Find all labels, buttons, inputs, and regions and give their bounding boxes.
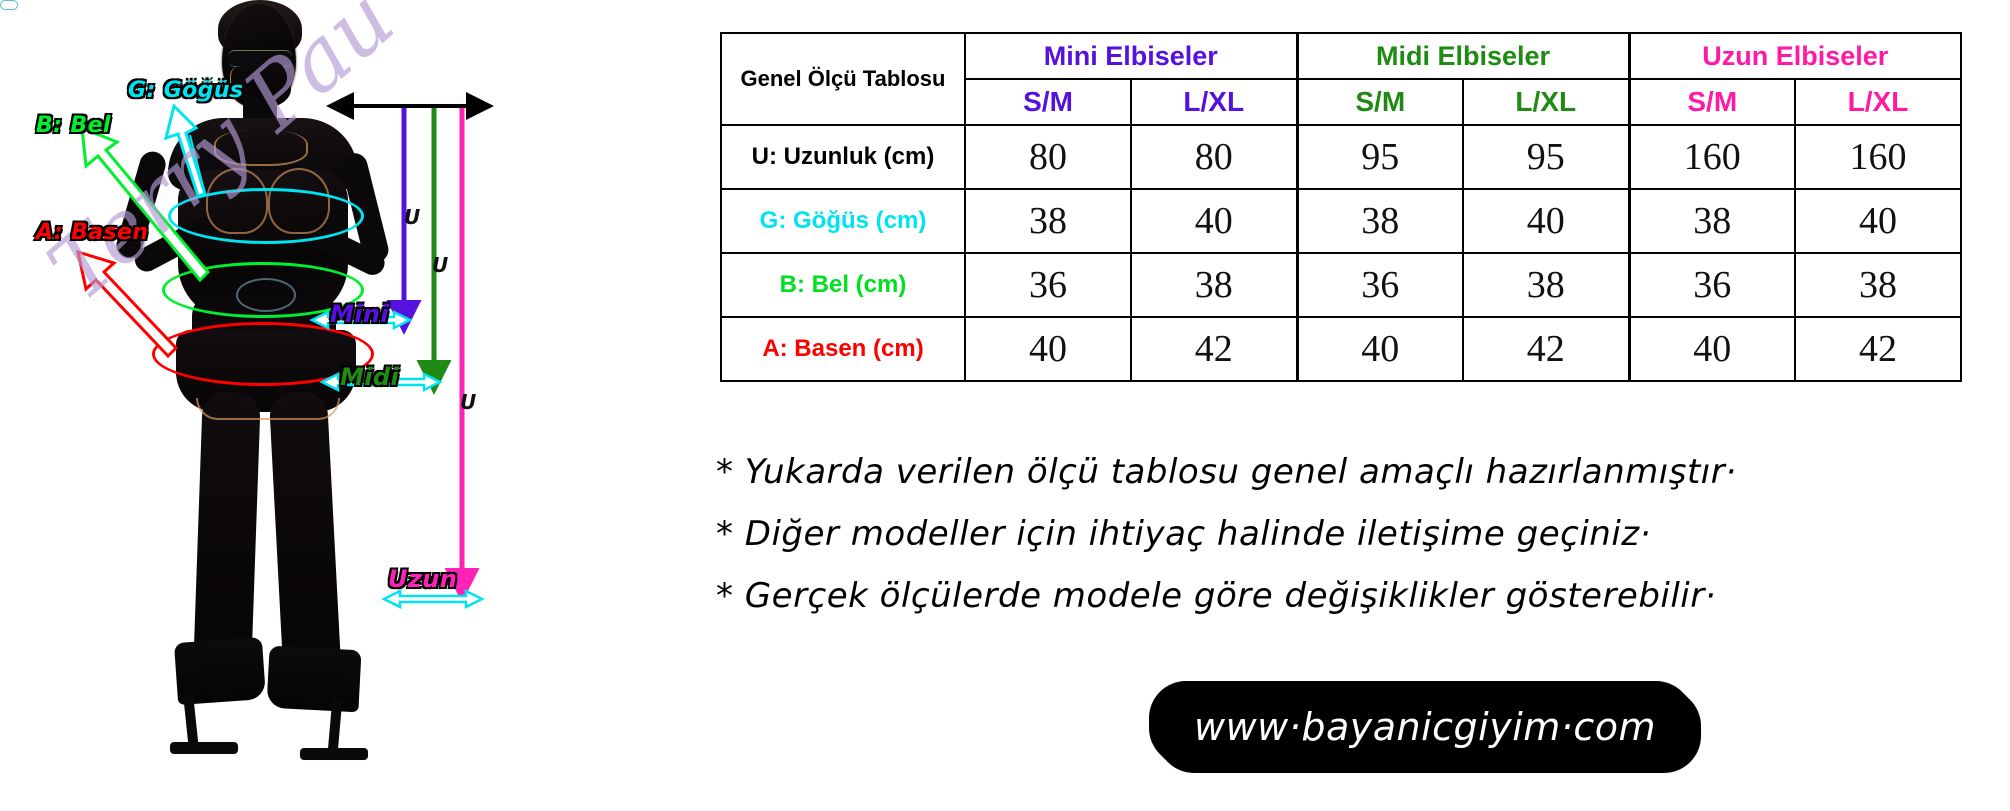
cell-uzunluk-uzun-sm: 160 — [1629, 125, 1795, 189]
row-label-gogus: G: Göğüs (cm) — [721, 189, 965, 253]
cell-basen-midi-lxl: 42 — [1463, 317, 1629, 381]
cell-basen-uzun-lxl: 42 — [1795, 317, 1961, 381]
cell-gogus-midi-sm: 38 — [1297, 189, 1463, 253]
cell-basen-uzun-sm: 40 — [1629, 317, 1795, 381]
cell-uzunluk-midi-sm: 95 — [1297, 125, 1463, 189]
cell-uzunluk-mini-sm: 80 — [965, 125, 1131, 189]
cell-basen-mini-sm: 40 — [965, 317, 1131, 381]
cell-gogus-uzun-sm: 38 — [1629, 189, 1795, 253]
waist-label: B: Bel — [36, 113, 111, 138]
row-label-bel: B: Bel (cm) — [721, 253, 965, 317]
cell-bel-midi-lxl: 38 — [1463, 253, 1629, 317]
group-header-mini: Mini Elbiseler — [965, 33, 1297, 79]
group-header-midi: Midi Elbiseler — [1297, 33, 1629, 79]
size-header-uzun-sm: S/M — [1629, 79, 1795, 125]
info-panel: Genel Ölçü Tablosu Mini Elbiseler Midi E… — [660, 0, 2010, 811]
cell-bel-midi-sm: 36 — [1297, 253, 1463, 317]
row-label-uzunluk: U: Uzunluk (cm) — [721, 125, 965, 189]
uzun-span-arrow — [384, 591, 482, 607]
size-header-uzun-lxl: L/XL — [1795, 79, 1961, 125]
cell-bel-mini-sm: 36 — [965, 253, 1131, 317]
cell-uzunluk-midi-lxl: 95 — [1463, 125, 1629, 189]
size-chart-image: Terry Pau G: Göğüs B: Bel A: Basen Mini … — [0, 0, 2010, 811]
size-header-mini-lxl: L/XL — [1131, 79, 1297, 125]
table-row: A: Basen (cm) 40 42 40 42 40 42 — [721, 317, 1961, 381]
cell-gogus-uzun-lxl: 40 — [1795, 189, 1961, 253]
cell-uzunluk-mini-lxl: 80 — [1131, 125, 1297, 189]
cell-basen-midi-sm: 40 — [1297, 317, 1463, 381]
cell-basen-mini-lxl: 42 — [1131, 317, 1297, 381]
note-line-3: * Gerçek ölçülerde modele göre değişikli… — [716, 576, 1716, 616]
size-header-mini-sm: S/M — [965, 79, 1131, 125]
hip-pointer-arrow — [78, 252, 176, 356]
size-table: Genel Ölçü Tablosu Mini Elbiseler Midi E… — [720, 32, 1962, 382]
table-header-group-row: Genel Ölçü Tablosu Mini Elbiseler Midi E… — [721, 33, 1961, 79]
mini-label: Mini — [330, 300, 389, 328]
hip-label: A: Basen — [36, 220, 148, 245]
cell-gogus-mini-sm: 38 — [965, 189, 1131, 253]
cell-bel-mini-lxl: 38 — [1131, 253, 1297, 317]
u-mark-uzun: U — [460, 390, 476, 414]
size-header-midi-lxl: L/XL — [1463, 79, 1629, 125]
cell-gogus-mini-lxl: 40 — [1131, 189, 1297, 253]
figure-illustration-panel: Terry Pau G: Göğüs B: Bel A: Basen Mini … — [0, 0, 660, 811]
cell-uzunluk-uzun-lxl: 160 — [1795, 125, 1961, 189]
size-header-midi-sm: S/M — [1297, 79, 1463, 125]
table-corner-label: Genel Ölçü Tablosu — [721, 33, 965, 125]
website-url-badge[interactable]: www·bayanicgiyim·com — [1160, 692, 1690, 762]
uzun-label: Uzun — [388, 565, 457, 593]
group-header-uzun: Uzun Elbiseler — [1629, 33, 1961, 79]
cell-gogus-midi-lxl: 40 — [1463, 189, 1629, 253]
cell-bel-uzun-sm: 36 — [1629, 253, 1795, 317]
midi-label: Midi — [340, 363, 399, 391]
row-label-basen: A: Basen (cm) — [721, 317, 965, 381]
table-row: U: Uzunluk (cm) 80 80 95 95 160 160 — [721, 125, 1961, 189]
table-row: G: Göğüs (cm) 38 40 38 40 38 40 — [721, 189, 1961, 253]
u-mark-midi: U — [432, 253, 448, 277]
u-mark-mini: U — [404, 205, 420, 229]
bust-pointer-arrow — [166, 106, 205, 196]
table-row: B: Bel (cm) 36 38 36 38 36 38 — [721, 253, 1961, 317]
note-line-1: * Yukarda verilen ölçü tablosu genel ama… — [716, 452, 1737, 492]
note-line-2: * Diğer modeller için ihtiyaç halinde il… — [716, 514, 1651, 554]
website-url-text: www·bayanicgiyim·com — [1194, 705, 1656, 749]
bust-label: G: Göğüs — [128, 78, 243, 103]
cell-bel-uzun-lxl: 38 — [1795, 253, 1961, 317]
